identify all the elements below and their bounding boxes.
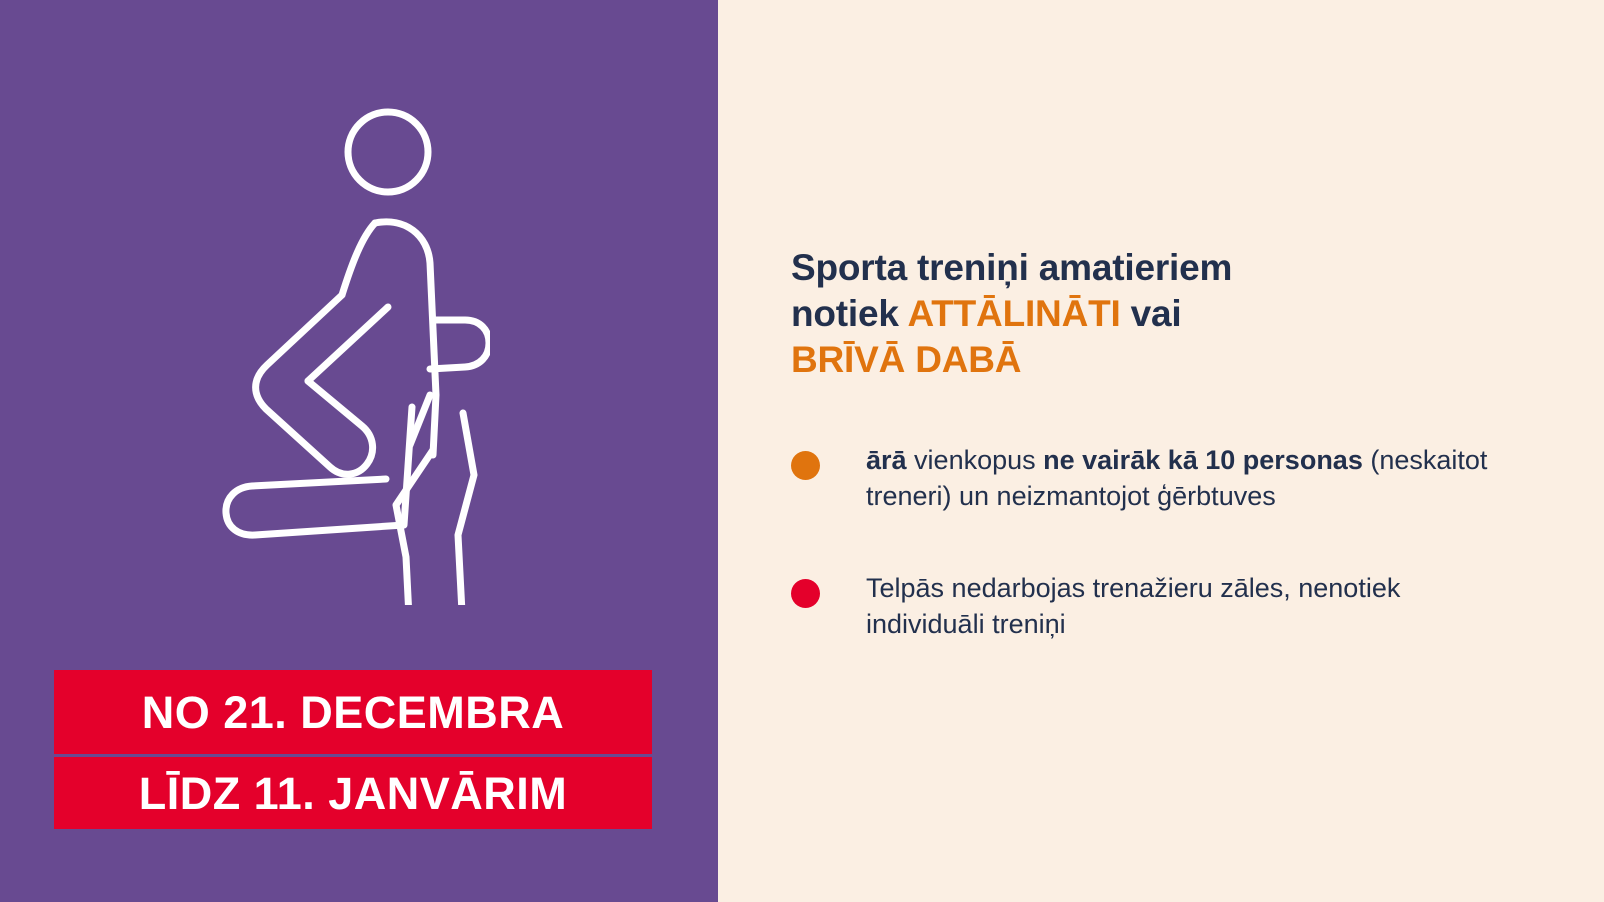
date-banner-end: LĪDZ 11. JANVĀRIM <box>54 757 652 829</box>
date-range-banners: NO 21. DECEMBRA LĪDZ 11. JANVĀRIM <box>54 670 652 829</box>
headline-accent-outdoors: BRĪVĀ DABĀ <box>791 339 1021 380</box>
list-item: ārā vienkopus ne vairāk kā 10 personas (… <box>791 443 1551 515</box>
list-item-text: ārā vienkopus ne vairāk kā 10 personas (… <box>866 443 1526 515</box>
headline-line-3: BRĪVĀ DABĀ <box>791 337 1491 383</box>
rules-list: ārā vienkopus ne vairāk kā 10 personas (… <box>791 443 1551 643</box>
poster-root: NO 21. DECEMBRA LĪDZ 11. JANVĀRIM Sporta… <box>0 0 1604 902</box>
bullet-dot-icon <box>791 451 820 480</box>
running-person-icon <box>190 95 490 605</box>
left-purple-panel: NO 21. DECEMBRA LĪDZ 11. JANVĀRIM <box>0 0 718 902</box>
page-title: Sporta treniņi amatieriem notiek ATTĀLIN… <box>791 245 1491 383</box>
headline-line-1: Sporta treniņi amatieriem <box>791 245 1491 291</box>
headline-line-1-text: Sporta treniņi amatieriem <box>791 247 1232 288</box>
list-item-lead-bold: ārā <box>866 445 907 475</box>
date-banner-start: NO 21. DECEMBRA <box>54 670 652 754</box>
date-banner-end-label: LĪDZ 11. JANVĀRIM <box>139 771 568 816</box>
list-item: Telpās nedarbojas trenažieru zāles, neno… <box>791 571 1551 643</box>
list-item-mid-plain: Telpās nedarbojas trenažieru zāles, neno… <box>866 573 1400 639</box>
bullet-dot-icon <box>791 579 820 608</box>
right-cream-panel: Sporta treniņi amatieriem notiek ATTĀLIN… <box>718 0 1604 902</box>
headline-line-2: notiek ATTĀLINĀTI vai <box>791 291 1491 337</box>
list-item-mid-plain: vienkopus <box>907 445 1044 475</box>
date-banner-start-label: NO 21. DECEMBRA <box>142 690 565 735</box>
headline-line-2-prefix: notiek <box>791 293 907 334</box>
headline-accent-remote: ATTĀLINĀTI <box>907 293 1120 334</box>
headline-line-2-suffix: vai <box>1121 293 1182 334</box>
list-item-text: Telpās nedarbojas trenažieru zāles, neno… <box>866 571 1526 643</box>
list-item-mid-bold: ne vairāk kā 10 personas <box>1043 445 1363 475</box>
